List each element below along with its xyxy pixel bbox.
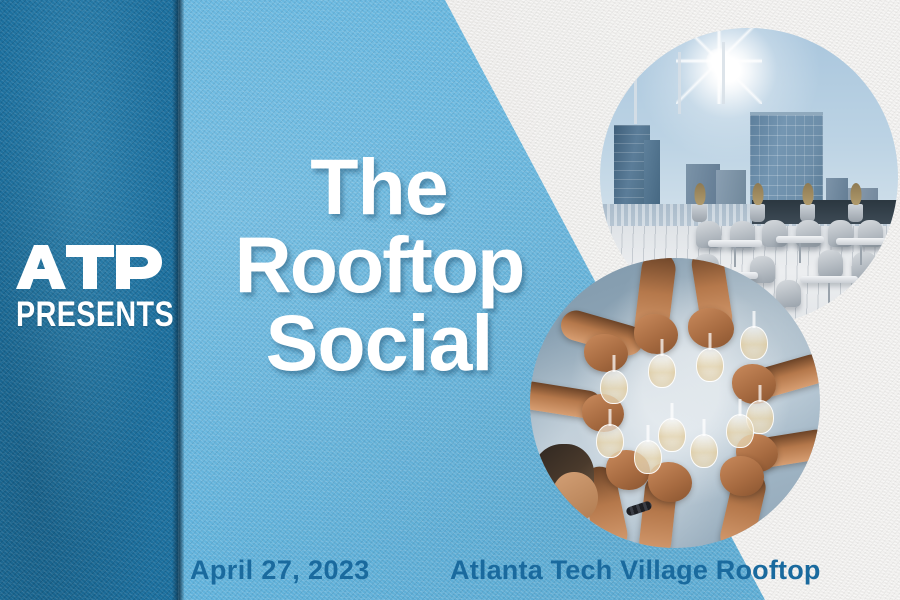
- champagne-glass: [740, 326, 768, 360]
- champagne-glass: [600, 370, 628, 404]
- hand: [732, 364, 776, 404]
- brand-logo-block: PRESENTS: [0, 243, 178, 332]
- hand: [634, 314, 678, 354]
- champagne-glass: [596, 424, 624, 458]
- terrace-table: [836, 238, 886, 245]
- champagne-glass: [648, 354, 676, 388]
- event-title: The Rooftop Social: [178, 148, 580, 383]
- hand: [720, 456, 764, 496]
- terrace-table: [776, 236, 824, 243]
- champagne-glass: [726, 414, 754, 448]
- atp-wordmark-logo: [14, 243, 164, 291]
- event-poster: PRESENTS The Rooftop Social: [0, 0, 900, 600]
- title-line-2: Rooftop: [178, 226, 580, 304]
- terrace-planter: [750, 204, 765, 222]
- champagne-glass: [634, 440, 662, 474]
- champagne-glass: [690, 434, 718, 468]
- title-line-3: Social: [178, 304, 580, 382]
- event-venue: Atlanta Tech Village Rooftop: [450, 555, 821, 586]
- champagne-glass: [696, 348, 724, 382]
- persons-face: [552, 472, 598, 522]
- title-line-1: The: [178, 148, 580, 226]
- terrace-planter: [848, 204, 863, 222]
- railing-post: [722, 42, 725, 104]
- hand: [584, 334, 628, 372]
- event-date: April 27, 2023: [190, 555, 370, 586]
- terrace-planter: [692, 204, 707, 222]
- sun-disk-icon: [706, 48, 732, 74]
- railing-post: [678, 52, 681, 114]
- presents-label: PRESENTS: [16, 297, 162, 332]
- champagne-glass: [658, 418, 686, 452]
- terrace-chair: [818, 250, 843, 277]
- terrace-table: [708, 240, 762, 247]
- terrace-table: [846, 300, 898, 307]
- terrace-chair: [852, 252, 877, 279]
- railing-post: [634, 62, 637, 124]
